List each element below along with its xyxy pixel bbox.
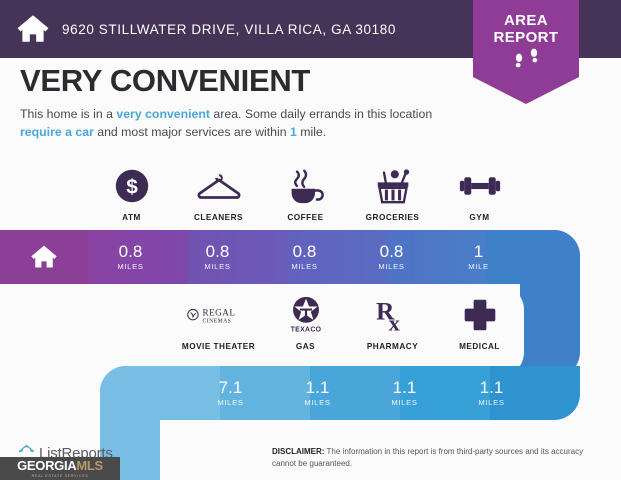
disclaimer-label: DISCLAIMER:: [272, 447, 324, 456]
distance-cell-groceries: 0.8 MILES: [348, 230, 435, 284]
distance-unit: MILES: [478, 398, 504, 407]
banner-line-1: AREA: [473, 13, 579, 30]
distance-unit: MILES: [391, 398, 417, 407]
distance-unit: MILES: [378, 262, 404, 271]
desc-highlight-2: require a car: [20, 125, 94, 139]
home-icon: [30, 243, 58, 271]
desc-part-4: mile.: [297, 125, 326, 139]
desc-part-3: and most major services are within: [94, 125, 290, 139]
desc-highlight-1: very convenient: [116, 107, 210, 121]
svg-text:TEXACO: TEXACO: [290, 326, 321, 333]
description-text: This home is in a very convenient area. …: [20, 106, 450, 141]
category-label: PHARMACY: [367, 342, 418, 351]
distance-cell-pharmacy: 1.1 MILES: [361, 366, 448, 420]
distance-cell-cleaners: 0.8 MILES: [174, 230, 261, 284]
rx-icon: R x: [376, 295, 410, 335]
distance-cell-gym: 1 MILE: [435, 230, 522, 284]
distance-value: 0.8: [206, 243, 230, 261]
distance-unit: MILES: [204, 262, 230, 271]
category-label: MOVIE THEATER: [182, 342, 255, 351]
distance-cell-movie-theater: 7.1 MILES: [187, 366, 274, 420]
distance-cell-medical: 1.1 MILES: [448, 366, 535, 420]
category-label: GROCERIES: [366, 213, 420, 222]
texaco-star-icon: TEXACO: [287, 295, 325, 335]
footprints-icon: [473, 53, 579, 69]
hanger-icon: [197, 166, 241, 206]
area-report-banner: AREA REPORT: [473, 0, 579, 104]
category-label: MEDICAL: [459, 342, 500, 351]
desc-part-2: area. Some daily errands in this locatio…: [210, 107, 432, 121]
category-gym: GYM: [436, 166, 523, 222]
distance-value: 1: [474, 243, 483, 261]
category-atm: $ ATM: [88, 166, 175, 222]
band-row2-lead: [100, 366, 187, 420]
row1-spacer: [0, 166, 88, 222]
home-marker-cell: [0, 230, 87, 284]
coffee-cup-icon: [287, 166, 325, 206]
category-pharmacy: R x PHARMACY: [349, 295, 436, 351]
svg-text:REGAL: REGAL: [202, 307, 235, 317]
svg-text:x: x: [388, 310, 399, 334]
distance-unit: MILES: [291, 262, 317, 271]
distance-cell-gas: 1.1 MILES: [274, 366, 361, 420]
distance-cell-coffee: 0.8 MILES: [261, 230, 348, 284]
mls-tagline: REAL ESTATE SERVICES: [32, 474, 89, 478]
category-icon-row-1: $ ATM CLEANERS: [0, 166, 621, 222]
row2-spacer: [0, 295, 175, 351]
distance-unit: MILES: [117, 262, 143, 271]
category-coffee: COFFEE: [262, 166, 349, 222]
category-label: GAS: [296, 342, 315, 351]
distance-value: 0.8: [380, 243, 404, 261]
area-report-page: 9620 STILLWATER DRIVE, VILLA RICA, GA 30…: [0, 0, 621, 480]
dumbbell-icon: [459, 166, 501, 206]
banner-line-2: REPORT: [473, 30, 579, 47]
regal-cinemas-logo: REGAL CINEMAS: [186, 295, 252, 335]
grocery-basket-icon: [373, 166, 413, 206]
distance-unit: MILE: [468, 262, 489, 271]
property-address: 9620 STILLWATER DRIVE, VILLA RICA, GA 30…: [62, 22, 396, 37]
distance-cell-atm: 0.8 MILES: [87, 230, 174, 284]
disclaimer: DISCLAIMER: The information in this repo…: [272, 446, 602, 469]
category-cleaners: CLEANERS: [175, 166, 262, 222]
svg-text:$: $: [126, 176, 138, 199]
page-title: VERY CONVENIENT: [20, 64, 450, 97]
home-icon: [16, 12, 50, 46]
distance-value: 7.1: [219, 379, 243, 397]
category-medical: MEDICAL: [436, 295, 523, 351]
desc-part-1: This home is in a: [20, 107, 116, 121]
category-label: GYM: [469, 213, 489, 222]
distance-value: 1.1: [306, 379, 330, 397]
mls-suffix-text: MLS: [76, 458, 103, 473]
distance-band-row-1: 0.8 MILES 0.8 MILES 0.8 MILES 0.8 MILES …: [0, 230, 580, 284]
desc-highlight-3: 1: [290, 125, 297, 139]
category-icon-row-2: REGAL CINEMAS MOVIE THEATER TEXACO GAS: [0, 295, 621, 351]
category-label: COFFEE: [287, 213, 323, 222]
distance-unit: MILES: [217, 398, 243, 407]
distance-value: 1.1: [480, 379, 504, 397]
category-gas: TEXACO GAS: [262, 295, 349, 351]
category-movie-theater: REGAL CINEMAS MOVIE THEATER: [175, 295, 262, 351]
georgia-mls-logo: GEORGIAMLS REAL ESTATE SERVICES: [0, 457, 120, 480]
dollar-circle-icon: $: [114, 166, 150, 206]
distance-value: 0.8: [293, 243, 317, 261]
svg-text:CINEMAS: CINEMAS: [202, 318, 231, 324]
distance-value: 0.8: [119, 243, 143, 261]
medical-cross-icon: [463, 295, 497, 335]
mls-georgia-text: GEORGIA: [17, 458, 76, 473]
category-label: CLEANERS: [194, 213, 243, 222]
distance-unit: MILES: [304, 398, 330, 407]
title-block: VERY CONVENIENT This home is in a very c…: [20, 64, 450, 141]
distance-band-row-2: 7.1 MILES 1.1 MILES 1.1 MILES 1.1 MILES: [100, 366, 580, 420]
category-label: ATM: [122, 213, 141, 222]
distance-value: 1.1: [393, 379, 417, 397]
category-groceries: GROCERIES: [349, 166, 436, 222]
